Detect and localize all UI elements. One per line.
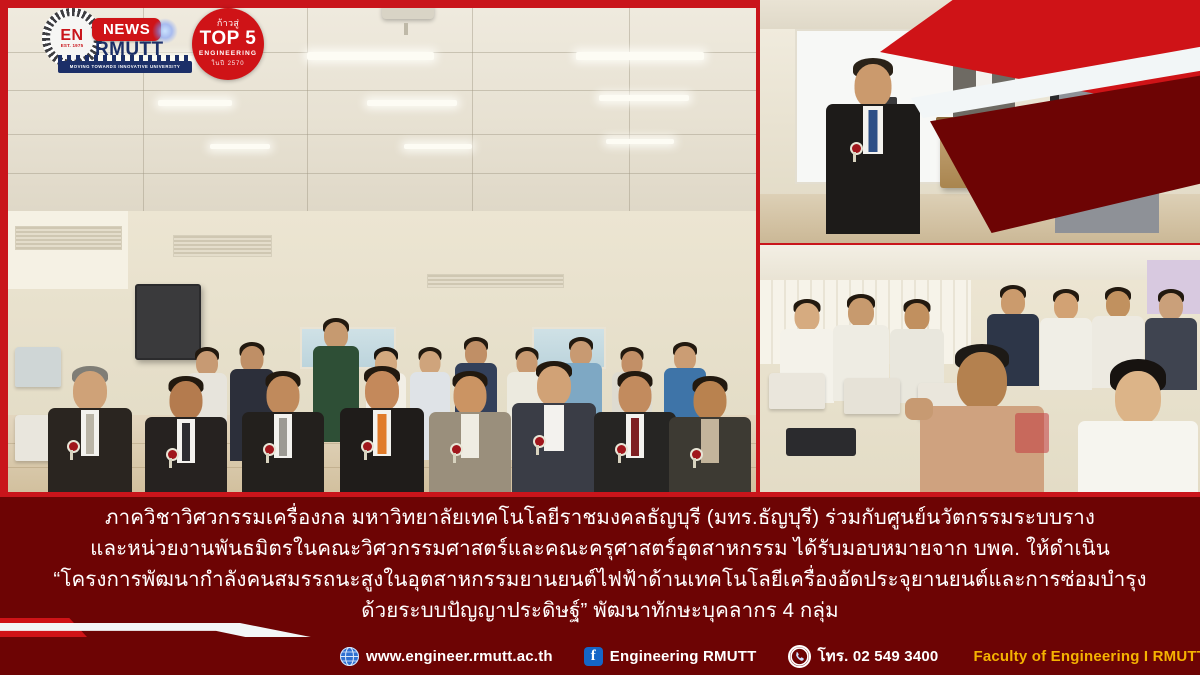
en-monogram: EN EST. 1975 (50, 16, 94, 60)
facebook-icon: f (584, 647, 603, 666)
facebook-text: Engineering RMUTT (610, 648, 757, 665)
caption-block: ภาควิชาวิศวกรรมเครื่องกล มหาวิทยาลัยเทคโ… (0, 497, 1200, 637)
top5-line1: ก้าวสู่ (192, 8, 264, 29)
footer-bar: www.engineer.rmutt.ac.th f Engineering R… (0, 637, 1200, 675)
news-badge: NEWS (92, 18, 161, 41)
phone-text: โทร. 02 549 3400 (818, 644, 939, 668)
globe-icon (340, 647, 359, 666)
top5-line2: TOP 5 (192, 29, 264, 48)
caption-line-1: ภาควิชาวิศวกรรมเครื่องกล มหาวิทยาลัยเทคโ… (0, 502, 1200, 533)
en-established-text: EST. 1975 (61, 43, 84, 48)
website-link[interactable]: www.engineer.rmutt.ac.th (340, 647, 553, 666)
caption-line-3: “โครงการพัฒนากำลังคนสมรรถนะสูงในอุตสาหกร… (0, 564, 1200, 595)
website-text: www.engineer.rmutt.ac.th (366, 648, 553, 665)
phone-icon (788, 645, 811, 668)
top5-engineering-badge: ก้าวสู่ TOP 5 ENGINEERING ในปี 2570 (192, 8, 264, 80)
caption-line-2: และหน่วยงานพันธมิตรในคณะวิศวกรรมศาสตร์แล… (0, 533, 1200, 564)
audience-seated (760, 245, 1200, 492)
en-text: EN (60, 28, 83, 43)
photo-collage (0, 0, 1200, 500)
faculty-label: Faculty of Engineering I RMUTT (973, 648, 1200, 665)
top5-line3: ENGINEERING (192, 48, 264, 59)
phone-contact[interactable]: โทร. 02 549 3400 (788, 644, 939, 668)
group-photo-ceremony (8, 8, 756, 492)
en-rmutt-news-logo: EN EST. 1975 NEWS RMUTT MOVING TOWARDS I… (40, 6, 106, 72)
header-logos: EN EST. 1975 NEWS RMUTT MOVING TOWARDS I… (40, 6, 106, 72)
rmutt-tagline: MOVING TOWARDS INNOVATIVE UNIVERSITY (58, 61, 192, 73)
poster-root: EN EST. 1975 NEWS RMUTT MOVING TOWARDS I… (0, 0, 1200, 675)
caption-line-4: ด้วยระบบปัญญาประดิษฐ์” พัฒนาทักษะบุคลากร… (0, 595, 1200, 626)
lens-flare-decor (152, 18, 178, 44)
facebook-link[interactable]: f Engineering RMUTT (584, 647, 757, 666)
top5-line4: ในปี 2570 (192, 59, 264, 69)
